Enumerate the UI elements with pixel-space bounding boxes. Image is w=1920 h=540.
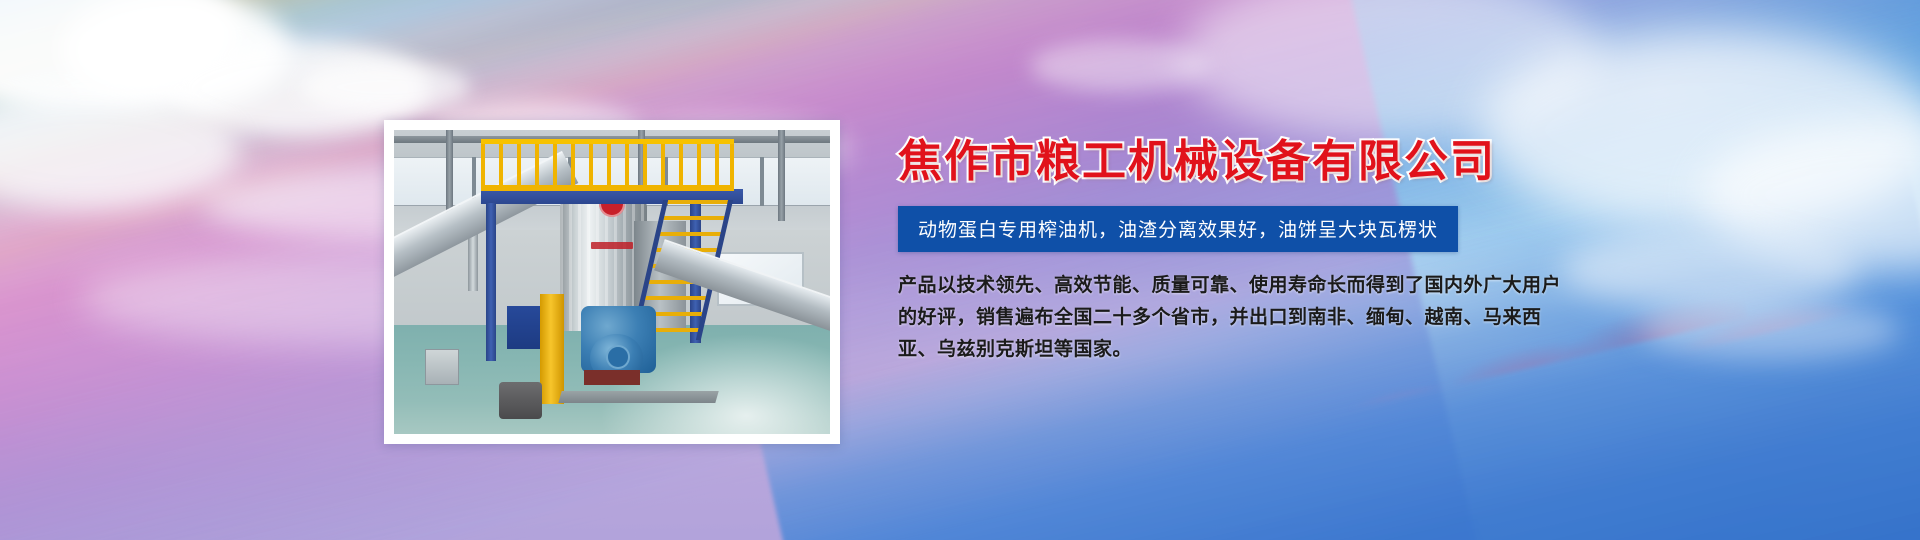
oil-press-base [584, 370, 641, 385]
window-mullion [760, 157, 764, 206]
platform-leg-left [486, 203, 497, 361]
banner-text-column: 焦作市粮工机械设备有限公司 动物蛋白专用榨油机，油渣分离效果好，油饼呈大块瓦楞状… [880, 140, 1700, 366]
yellow-guardrail [481, 139, 734, 191]
guardrail-top-bar [481, 139, 734, 144]
side-equipment-box [425, 349, 460, 385]
oil-press-hub [608, 347, 628, 366]
cloud-shape [300, 60, 470, 114]
product-photo-frame [384, 120, 840, 444]
vessel-brand-text [591, 242, 633, 249]
hero-banner: 焦作市粮工机械设备有限公司 动物蛋白专用榨油机，油渣分离效果好，油饼呈大块瓦楞状… [0, 0, 1920, 540]
drive-motor [499, 382, 543, 418]
subtitle-highlight-bar: 动物蛋白专用榨油机，油渣分离效果好，油饼呈大块瓦楞状 [898, 206, 1458, 252]
steel-column [778, 130, 785, 221]
equipment-skid [558, 391, 718, 403]
product-photo [394, 130, 830, 434]
company-description: 产品以技术领先、高效节能、质量可靠、使用寿命长而得到了国内外广大用户的好评，销售… [898, 270, 1570, 366]
company-title: 焦作市粮工机械设备有限公司 [898, 140, 1700, 184]
yellow-duct [540, 294, 564, 403]
cloud-shape [1030, 40, 1210, 92]
